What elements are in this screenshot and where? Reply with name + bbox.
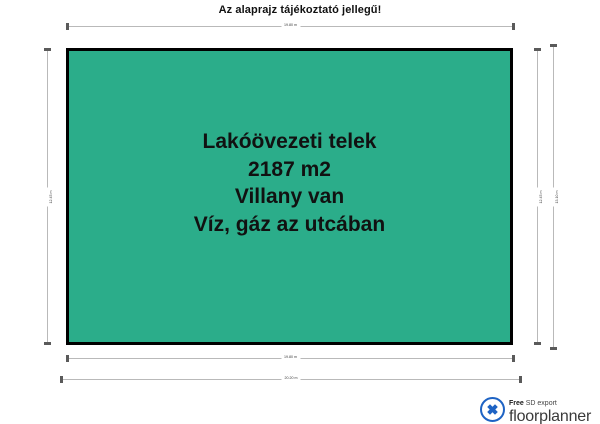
- watermark-export-line: Free SD export: [509, 400, 557, 407]
- dimension-label: 12.45 m: [537, 187, 546, 206]
- dimension-cap-end: [534, 342, 541, 345]
- watermark-free-label: Free: [509, 400, 524, 407]
- dimension-bottom-inner-width: 19.80 m: [66, 354, 515, 363]
- dimension-cap-start: [66, 23, 69, 30]
- dimension-cap-start: [44, 48, 51, 51]
- dimension-top-width: 19.80 m: [66, 22, 515, 31]
- dimension-cap-end: [550, 347, 557, 350]
- dimension-left-height: 12.45 m: [43, 48, 52, 345]
- dimension-cap-end: [519, 376, 522, 383]
- dimension-bottom-outer-width: 20.20 m: [60, 375, 522, 384]
- floorplan-canvas: Az alaprajz tájékoztató jellegű! 19.80 m…: [0, 0, 600, 424]
- floorplanner-logo-icon: [480, 397, 505, 422]
- dimension-cap-end: [44, 342, 51, 345]
- dimension-label: 20.20 m: [282, 374, 301, 383]
- dimension-cap-start: [60, 376, 63, 383]
- dimension-right-inner-height: 12.45 m: [533, 48, 542, 345]
- dimension-label: 19.80 m: [281, 21, 300, 30]
- watermark-export-label: SD export: [526, 400, 557, 407]
- watermark-text: Free SD export floorplanner: [509, 393, 591, 424]
- floorplanner-watermark[interactable]: Free SD export floorplanner: [480, 393, 591, 424]
- dimension-right-outer-height: 13.10 m: [549, 44, 558, 350]
- dimension-label: 12.45 m: [47, 187, 56, 206]
- dimension-label: 13.10 m: [553, 188, 562, 207]
- dimension-label: 19.80 m: [281, 353, 300, 362]
- page-title: Az alaprajz tájékoztató jellegű!: [0, 4, 600, 16]
- dimension-cap-start: [534, 48, 541, 51]
- plot-area-rectangle[interactable]: [66, 48, 513, 345]
- dimension-cap-start: [66, 355, 69, 362]
- dimension-cap-start: [550, 44, 557, 47]
- dimension-cap-end: [512, 355, 515, 362]
- dimension-cap-end: [512, 23, 515, 30]
- watermark-brand-label: floorplanner: [509, 409, 591, 424]
